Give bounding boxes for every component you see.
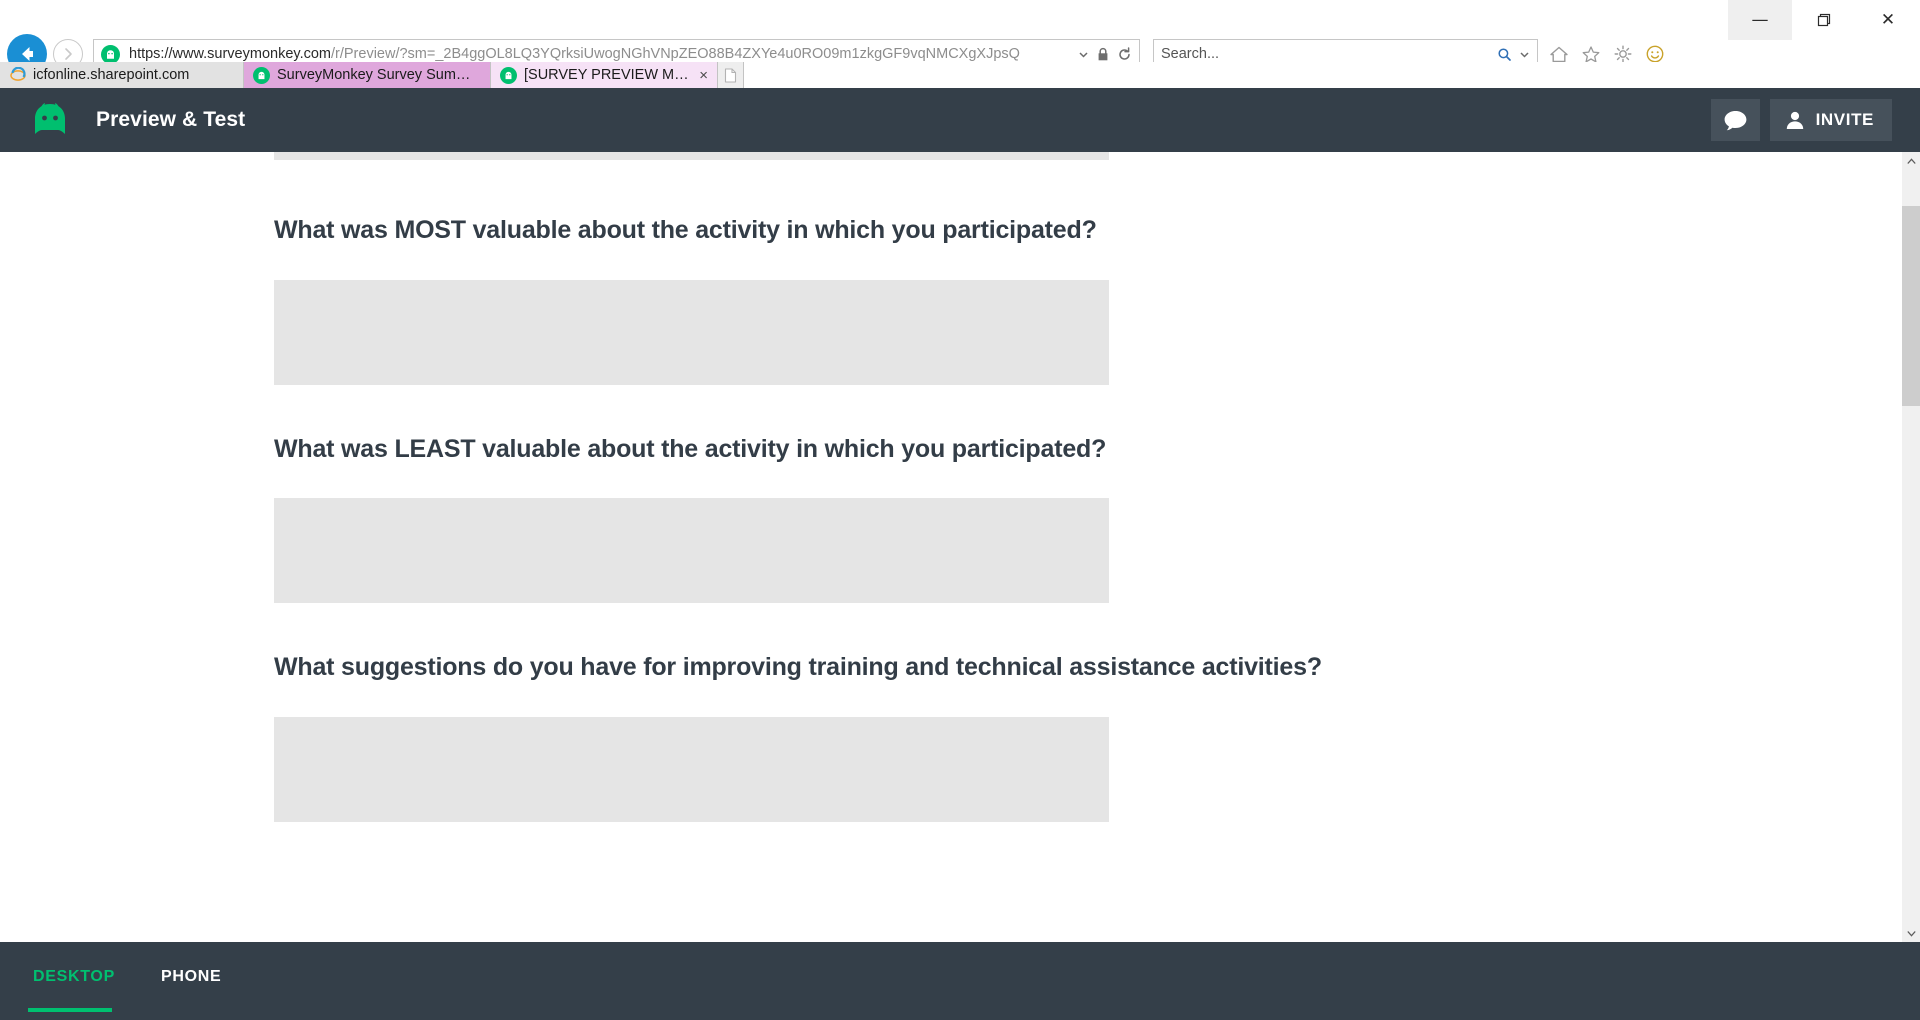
url-text: https://www.surveymonkey.com/r/Preview/?… [129,46,1071,62]
answer-textarea[interactable] [274,717,1109,822]
vertical-scrollbar[interactable] [1902,152,1920,942]
app-header-actions: INVITE [1711,99,1892,141]
survey-content: What was MOST valuable about the activit… [0,152,1902,942]
tab-survey-preview[interactable]: [SURVEY PREVIEW MODE] O... × [491,62,718,88]
question-item: What suggestions do you have for improvi… [0,603,1902,822]
invite-button[interactable]: INVITE [1770,99,1892,141]
browser-window: — ✕ [0,0,1920,1020]
tab-close-icon[interactable]: × [691,68,708,83]
scroll-down-button[interactable] [1902,924,1920,942]
search-dropdown-button[interactable] [1519,49,1530,60]
active-tab-indicator [28,1008,112,1012]
search-input[interactable]: Search... [1161,46,1490,62]
tab-phone-label: PHONE [161,968,221,985]
restore-icon [1817,13,1832,28]
minimize-icon: — [1752,12,1769,29]
question-text: What was LEAST valuable about the activi… [274,433,1902,466]
question-text: What was MOST valuable about the activit… [274,214,1902,247]
internet-explorer-icon [9,67,26,84]
favorites-star-icon [1581,45,1601,64]
chat-button[interactable] [1711,99,1760,141]
surveymonkey-favicon [500,67,517,84]
question-item: What was MOST valuable about the activit… [0,160,1902,385]
refresh-button[interactable] [1117,47,1132,62]
scrollbar-track[interactable] [1902,170,1920,924]
url-domain: https://www.surveymonkey.com [129,46,331,62]
scroll-up-button[interactable] [1902,152,1920,170]
partial-answer-box-top [0,152,1902,160]
chevron-down-icon [1078,49,1089,60]
new-tab-button[interactable] [718,62,744,88]
search-icon [1497,47,1512,62]
smiley-feedback-icon [1645,44,1665,64]
tab-desktop-label: DESKTOP [33,968,115,985]
security-lock-button[interactable] [1096,47,1110,62]
forward-arrow-icon [60,46,76,62]
refresh-icon [1117,47,1132,62]
surveymonkey-favicon [253,67,270,84]
new-tab-icon [724,68,737,83]
page-title: Preview & Test [96,108,245,132]
answer-textarea[interactable] [274,498,1109,603]
address-dropdown-button[interactable] [1078,49,1089,60]
url-path: /r/Preview/?sm=_2B4ggOL8LQ3YQrksiUwogNGh… [331,46,1020,62]
invite-label: INVITE [1816,110,1874,130]
answer-textarea[interactable] [274,280,1109,385]
surveymonkey-monkey-logo [27,100,73,140]
tab-desktop[interactable]: DESKTOP [33,968,115,1012]
chat-bubble-icon [1723,109,1748,132]
answer-textarea[interactable] [274,152,1109,160]
chevron-down-icon [1907,930,1916,937]
question-text: What suggestions do you have for improvi… [274,651,1902,684]
question-item: What was LEAST valuable about the activi… [0,385,1902,604]
surveymonkey-favicon [101,45,120,64]
gear-icon [1613,44,1633,64]
tab-strip: icfonline.sharepoint.com SurveyMonkey Su… [0,62,1920,88]
app-header: Preview & Test INVITE [0,88,1920,152]
chevron-up-icon [1907,158,1916,165]
person-icon [1784,109,1806,131]
tab-phone[interactable]: PHONE [161,968,221,1012]
home-icon [1549,45,1569,64]
tab-sharepoint[interactable]: icfonline.sharepoint.com [0,62,244,88]
search-button[interactable] [1497,47,1512,62]
chevron-down-icon [1519,49,1530,60]
tab-survey-preview-label: [SURVEY PREVIEW MODE] O... [524,67,691,83]
scrollbar-thumb[interactable] [1902,206,1920,406]
close-icon: ✕ [1881,12,1895,29]
preview-device-footer: DESKTOP PHONE [0,942,1920,1020]
tab-surveymonkey-summary[interactable]: SurveyMonkey Survey Summary [244,62,491,88]
tab-sharepoint-label: icfonline.sharepoint.com [33,67,189,83]
tab-strip-empty-area [744,62,1920,88]
lock-icon [1096,47,1110,62]
tab-surveymonkey-summary-label: SurveyMonkey Survey Summary [277,67,481,83]
